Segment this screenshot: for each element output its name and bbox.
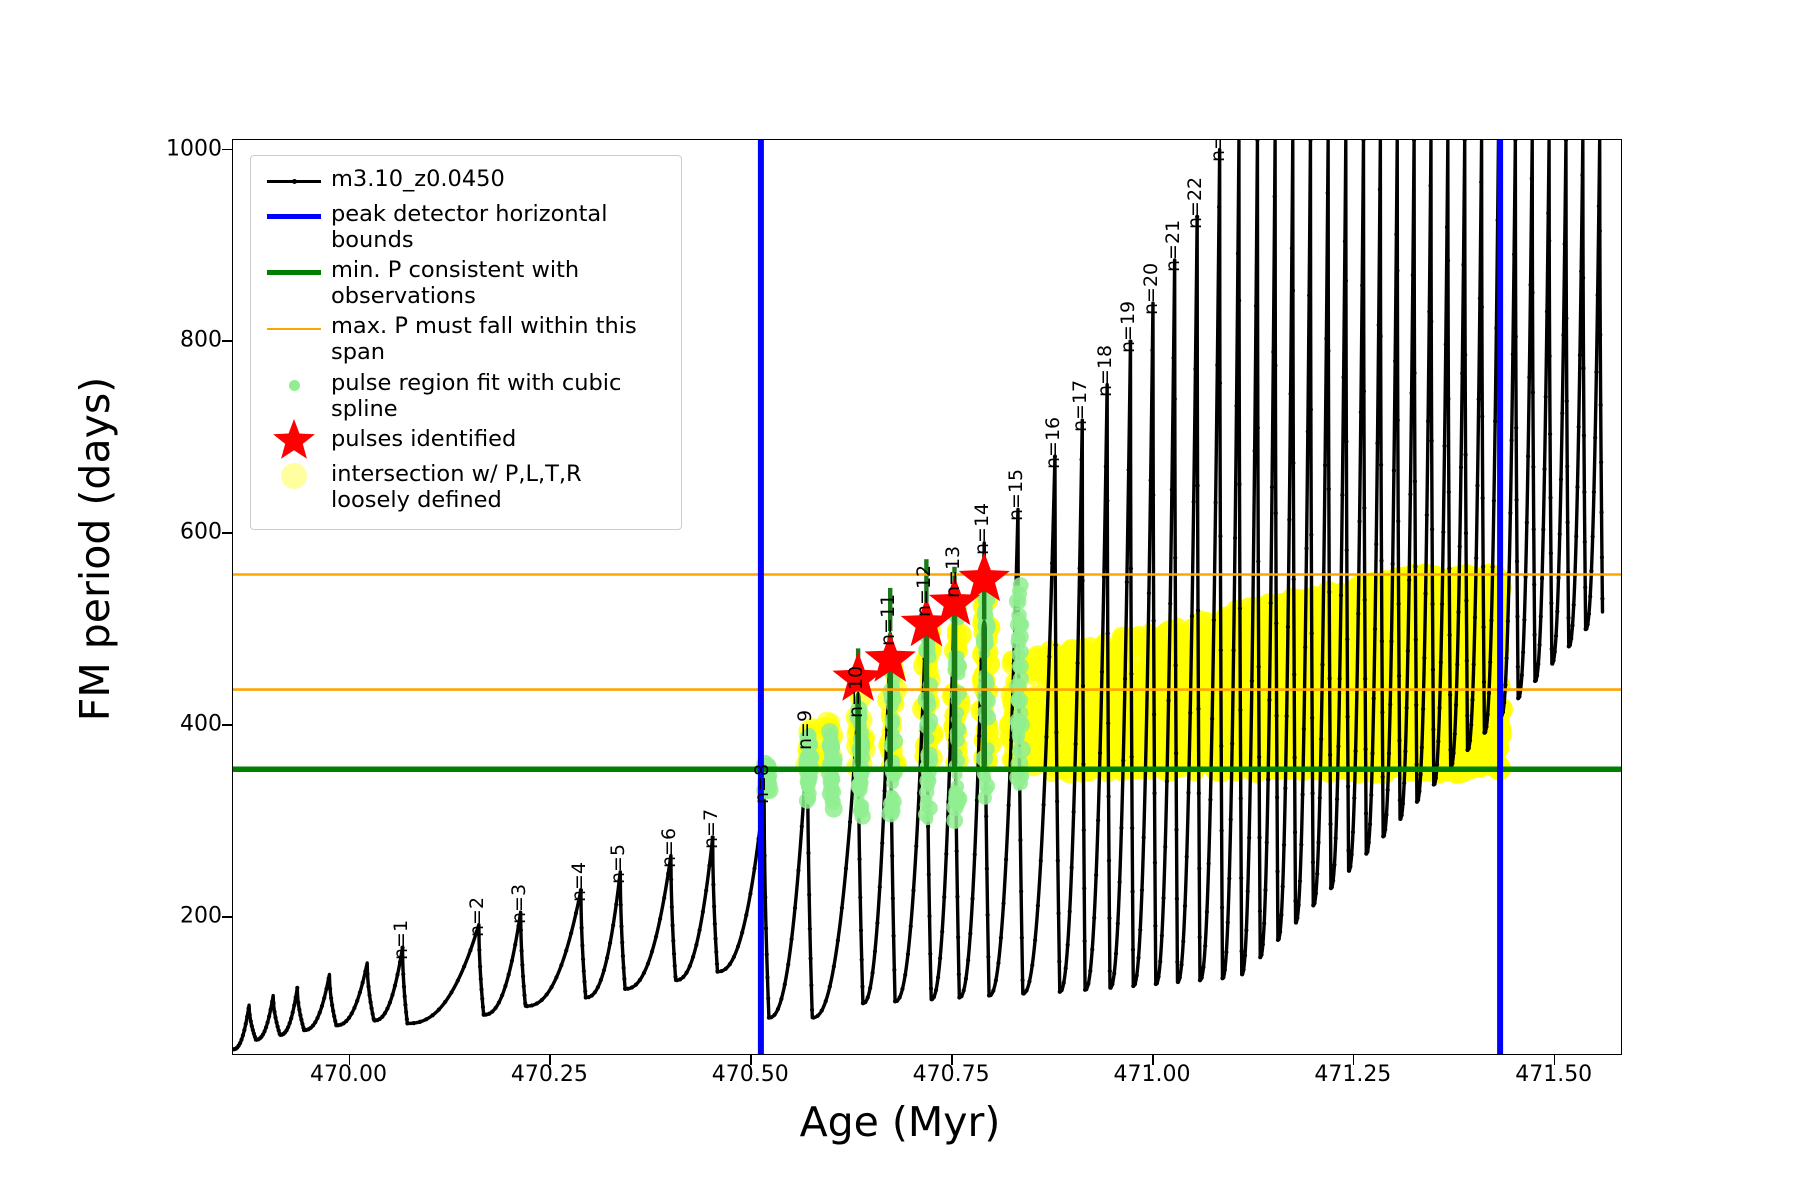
track-point — [1425, 513, 1429, 517]
track-point — [1525, 521, 1529, 525]
spline-point — [1012, 733, 1024, 745]
track-point — [1479, 180, 1483, 184]
track-point — [796, 868, 800, 872]
y-tick-mark — [222, 724, 232, 726]
x-tick-mark — [951, 1055, 953, 1065]
pulse-number-label: n=22 — [1184, 177, 1206, 229]
x-tick-label: 470.00 — [269, 1062, 429, 1087]
track-point — [1155, 981, 1159, 985]
track-point — [1336, 744, 1340, 748]
track-point — [1274, 621, 1278, 625]
track-point — [300, 1022, 304, 1026]
x-tick-mark — [1554, 1055, 1556, 1065]
spline-point — [1014, 661, 1024, 671]
track-point — [1503, 683, 1507, 687]
track-point — [712, 904, 716, 908]
track-point — [1541, 527, 1545, 531]
track-point — [497, 1000, 501, 1004]
track-point — [650, 949, 654, 953]
track-point — [1234, 404, 1238, 408]
track-point — [1481, 496, 1485, 500]
track-point — [1107, 859, 1111, 863]
track-point — [966, 958, 970, 962]
track-point — [478, 965, 482, 969]
legend-entry[interactable]: pulses identified — [263, 426, 669, 457]
track-point — [1339, 593, 1343, 597]
track-point — [264, 1025, 268, 1029]
track-point — [1575, 485, 1579, 489]
track-point — [1110, 982, 1114, 986]
track-point — [1183, 904, 1187, 908]
track-point — [244, 1022, 248, 1026]
track-point — [1273, 363, 1277, 367]
track-point — [269, 1007, 273, 1011]
track-point — [1416, 798, 1420, 802]
track-point — [1019, 889, 1023, 893]
track-point — [1447, 566, 1451, 570]
track-point — [1240, 972, 1244, 976]
track-point — [1582, 433, 1586, 437]
track-point — [1363, 677, 1367, 681]
track-point — [1138, 928, 1142, 932]
track-point — [1196, 608, 1200, 612]
track-point — [581, 957, 585, 961]
track-point — [1437, 706, 1441, 710]
track-point — [809, 983, 813, 987]
legend-entry[interactable]: pulse region fit with cubic spline — [263, 370, 669, 422]
track-point — [519, 928, 523, 932]
y-tick-label: 600 — [102, 520, 222, 545]
track-point — [870, 971, 874, 975]
track-point — [582, 969, 586, 973]
track-point — [330, 1003, 334, 1007]
track-point — [1160, 934, 1164, 938]
pulse-number-label: n=1 — [390, 920, 412, 960]
track-point — [1123, 677, 1127, 681]
track-point — [1291, 461, 1295, 465]
track-point — [1330, 885, 1334, 889]
track-point — [1279, 913, 1283, 917]
track-point — [1275, 869, 1279, 873]
track-point — [1062, 981, 1066, 985]
track-point — [1392, 468, 1396, 472]
track-point — [1346, 715, 1350, 719]
track-point — [962, 988, 966, 992]
track-point — [1407, 578, 1411, 582]
track-point — [619, 924, 623, 928]
track-point — [1135, 973, 1139, 977]
track-point — [711, 883, 715, 887]
track-point — [530, 1003, 534, 1007]
track-point — [1379, 559, 1383, 563]
track-point — [1070, 865, 1074, 869]
track-point — [670, 905, 674, 909]
track-point — [1293, 830, 1297, 834]
track-point — [535, 1001, 539, 1005]
track-point — [1307, 294, 1311, 298]
track-point — [1359, 410, 1363, 414]
track-point — [630, 985, 634, 989]
track-point — [1156, 975, 1160, 979]
track-point — [318, 1011, 322, 1015]
track-point — [970, 897, 974, 901]
spline-point — [886, 776, 899, 789]
spline-point — [888, 791, 899, 802]
track-point — [673, 964, 677, 968]
track-point — [1377, 323, 1381, 327]
track-point — [1076, 661, 1080, 665]
track-point — [1343, 239, 1347, 243]
track-point — [1298, 879, 1302, 883]
track-point — [580, 926, 584, 930]
track-point — [642, 971, 646, 975]
track-point — [1286, 625, 1290, 629]
track-point — [873, 949, 877, 953]
track-point — [1107, 916, 1111, 920]
track-point — [1520, 673, 1524, 677]
track-point — [401, 972, 405, 976]
legend-star-swatch — [263, 426, 325, 457]
track-point — [1151, 493, 1155, 497]
track-point — [1084, 987, 1088, 991]
track-point — [1436, 740, 1440, 744]
track-point — [1346, 848, 1350, 852]
track-point — [1481, 625, 1485, 629]
track-point — [1350, 852, 1354, 856]
x-axis-title: Age (Myr) — [0, 1098, 1800, 1146]
track-point — [1036, 904, 1040, 908]
track-point — [1239, 876, 1243, 880]
track-point — [1389, 639, 1393, 643]
track-point — [964, 977, 968, 981]
track-point — [1488, 660, 1492, 664]
track-point — [1600, 597, 1604, 601]
track-point — [1042, 803, 1046, 807]
track-point — [929, 986, 933, 990]
track-point — [1515, 614, 1519, 618]
spline-point — [800, 748, 818, 766]
track-point — [522, 984, 526, 988]
track-point — [909, 924, 913, 928]
track-point — [1238, 606, 1242, 610]
track-point — [1212, 618, 1216, 622]
track-point — [332, 1014, 336, 1018]
track-point — [1224, 950, 1228, 954]
track-point — [1247, 836, 1251, 840]
track-point — [590, 993, 594, 997]
track-point — [1277, 937, 1281, 941]
track-point — [1548, 354, 1552, 358]
track-point — [744, 913, 748, 917]
track-point — [906, 952, 910, 956]
track-point — [1448, 748, 1452, 752]
legend-entry[interactable]: intersection w/ P,L,T,R loosely defined — [263, 461, 669, 513]
track-point — [1413, 479, 1417, 483]
track-point — [786, 962, 790, 966]
track-point — [1591, 534, 1595, 538]
track-point — [863, 1000, 867, 1004]
track-point — [1237, 299, 1241, 303]
track-point — [1551, 659, 1555, 663]
track-point — [1348, 864, 1352, 868]
track-point — [1033, 938, 1037, 942]
track-point — [989, 993, 993, 997]
track-point — [490, 1009, 494, 1013]
track-point — [380, 1015, 384, 1019]
track-point — [1229, 817, 1233, 821]
track-point — [1528, 283, 1532, 287]
track-point — [691, 955, 695, 959]
track-point — [1599, 460, 1603, 464]
legend-entry[interactable]: peak detector horizontal bounds — [263, 201, 669, 253]
track-point — [1257, 665, 1261, 669]
x-tick-label: 470.50 — [670, 1062, 830, 1087]
track-point — [248, 1013, 252, 1017]
track-point — [271, 1001, 275, 1005]
track-point — [1047, 654, 1051, 658]
track-point — [938, 956, 942, 960]
track-point — [1086, 982, 1090, 986]
track-point — [1186, 791, 1190, 795]
track-point — [403, 994, 407, 998]
track-point — [1548, 432, 1552, 436]
track-point — [1223, 968, 1227, 972]
track-point — [898, 995, 902, 999]
legend-entry[interactable]: min. P consistent with observations — [263, 257, 669, 309]
track-point — [1118, 880, 1122, 884]
y-tick-label: 400 — [102, 712, 222, 737]
track-point — [1526, 454, 1530, 458]
legend-entry[interactable]: max. P must fall within this span — [263, 313, 669, 365]
figure-root: FM period (days) Age (Myr) 2004006008001… — [0, 0, 1800, 1200]
track-point — [681, 975, 685, 979]
track-point — [1175, 960, 1179, 964]
track-point — [582, 980, 586, 984]
track-point — [1402, 781, 1406, 785]
star-icon — [266, 418, 322, 464]
track-point — [1450, 762, 1454, 766]
track-point — [1484, 725, 1488, 729]
track-point — [984, 814, 988, 818]
track-point — [1516, 665, 1520, 669]
track-point — [1474, 556, 1478, 560]
track-point — [800, 824, 804, 828]
track-point — [619, 903, 623, 907]
track-point — [1442, 444, 1446, 448]
track-point — [1195, 484, 1199, 488]
track-point — [1326, 191, 1330, 195]
track-point — [806, 851, 810, 855]
track-point — [1303, 645, 1307, 649]
track-point — [1106, 795, 1110, 799]
track-point — [1579, 269, 1583, 273]
track-point — [1482, 680, 1486, 684]
track-point — [1320, 663, 1324, 667]
track-point — [1232, 648, 1236, 652]
track-point — [1533, 633, 1537, 637]
track-point — [1430, 602, 1434, 606]
track-point — [1106, 631, 1110, 635]
track-point — [1431, 727, 1435, 731]
legend-entry-label: intersection w/ P,L,T,R loosely defined — [325, 461, 582, 513]
track-point — [405, 1017, 409, 1021]
track-point — [388, 1000, 392, 1004]
track-point — [1265, 840, 1269, 844]
track-point — [1600, 555, 1604, 559]
track-point — [1201, 965, 1205, 969]
track-point — [1564, 316, 1568, 320]
track-point — [720, 969, 724, 973]
track-point — [1220, 905, 1224, 909]
track-point — [991, 989, 995, 993]
track-point — [820, 1009, 824, 1013]
track-point — [1439, 660, 1443, 664]
spline-point — [978, 791, 992, 805]
track-point — [477, 948, 481, 952]
track-point — [1310, 631, 1314, 635]
track-point — [1282, 843, 1286, 847]
track-point — [973, 852, 977, 856]
track-point — [1430, 527, 1434, 531]
track-point — [580, 943, 584, 947]
track-point — [1514, 335, 1518, 339]
track-point — [1398, 817, 1402, 821]
track-point — [1372, 696, 1376, 700]
track-point — [927, 872, 931, 876]
track-point — [1352, 796, 1356, 800]
track-point — [1278, 930, 1282, 934]
track-point — [1417, 789, 1421, 793]
track-point — [900, 987, 904, 991]
track-point — [1455, 662, 1459, 666]
track-point — [816, 1014, 820, 1018]
track-point — [1583, 585, 1587, 589]
track-point — [1207, 862, 1211, 866]
track-point — [1556, 576, 1560, 580]
pulse-number-label: n=23 — [1207, 139, 1229, 162]
track-point — [1080, 458, 1084, 462]
track-point — [1478, 296, 1482, 300]
track-point — [1517, 694, 1521, 698]
track-point — [328, 987, 332, 991]
track-point — [1283, 786, 1287, 790]
track-point — [1316, 840, 1320, 844]
pulse-number-label: n=15 — [1005, 469, 1027, 521]
track-point — [1208, 798, 1212, 802]
track-point — [294, 995, 298, 999]
track-point — [1072, 810, 1076, 814]
track-point — [1347, 869, 1351, 873]
track-point — [1257, 755, 1261, 759]
track-point — [1294, 920, 1298, 924]
track-point — [1441, 530, 1445, 534]
track-point — [1566, 616, 1570, 620]
track-point — [772, 1013, 776, 1017]
legend-big-dot-swatch — [263, 461, 325, 492]
track-point — [1190, 614, 1194, 618]
track-point — [1078, 566, 1082, 570]
track-point — [1515, 498, 1519, 502]
track-point — [361, 981, 365, 985]
track-point — [520, 949, 524, 953]
track-point — [1153, 861, 1157, 865]
track-point — [858, 895, 862, 899]
track-point — [1176, 980, 1180, 984]
track-point — [1345, 548, 1349, 552]
track-point — [1039, 859, 1043, 863]
spline-point — [922, 814, 933, 825]
track-point — [1326, 349, 1330, 353]
spline-point — [1012, 595, 1025, 608]
track-point — [366, 985, 370, 989]
pulse-number-label: n=11 — [877, 594, 899, 646]
track-point — [1323, 463, 1327, 467]
track-point — [1578, 353, 1582, 357]
track-point — [1200, 976, 1204, 980]
track-point — [1532, 583, 1536, 587]
track-point — [1161, 896, 1165, 900]
track-point — [1178, 976, 1182, 980]
legend-entry[interactable]: m3.10_z0.0450 — [263, 166, 669, 197]
track-point — [1257, 836, 1261, 840]
track-point — [1214, 500, 1218, 504]
y-tick-mark — [222, 532, 232, 534]
track-point — [957, 972, 961, 976]
track-point — [1542, 467, 1546, 471]
track-point — [481, 1005, 485, 1009]
track-point — [1269, 601, 1273, 605]
track-point — [1149, 478, 1153, 482]
legend[interactable]: m3.10_z0.0450peak detector horizontal bo… — [250, 155, 682, 530]
track-point — [1472, 662, 1476, 666]
x-tick-label: 471.50 — [1474, 1062, 1634, 1087]
track-point — [1456, 610, 1460, 614]
track-point — [1548, 496, 1552, 500]
track-point — [1581, 276, 1585, 280]
pulse-number-label: n=8 — [751, 764, 773, 804]
track-point — [1221, 975, 1225, 979]
track-point — [1467, 746, 1471, 750]
track-point — [242, 1028, 246, 1032]
spline-point — [825, 792, 839, 806]
track-point — [1130, 890, 1134, 894]
track-point — [1158, 959, 1162, 963]
track-point — [1082, 886, 1086, 890]
track-point — [1181, 939, 1185, 943]
track-point — [1288, 392, 1292, 396]
track-point — [1393, 359, 1397, 363]
track-point — [1431, 668, 1435, 672]
track-point — [1582, 490, 1586, 494]
track-point — [1561, 333, 1565, 337]
track-point — [1391, 562, 1395, 566]
track-point — [1414, 703, 1418, 707]
track-point — [1588, 594, 1592, 598]
track-point — [1310, 716, 1314, 720]
track-point — [1064, 966, 1068, 970]
track-point — [1179, 963, 1183, 967]
track-point — [1398, 798, 1402, 802]
track-point — [1050, 561, 1054, 565]
track-point — [1584, 627, 1588, 631]
track-point — [1357, 519, 1361, 523]
track-point — [286, 1025, 290, 1029]
track-point — [1534, 678, 1538, 682]
track-point — [1291, 289, 1295, 293]
spline-point — [851, 778, 868, 795]
track-point — [403, 1003, 407, 1007]
track-point — [1292, 577, 1296, 581]
